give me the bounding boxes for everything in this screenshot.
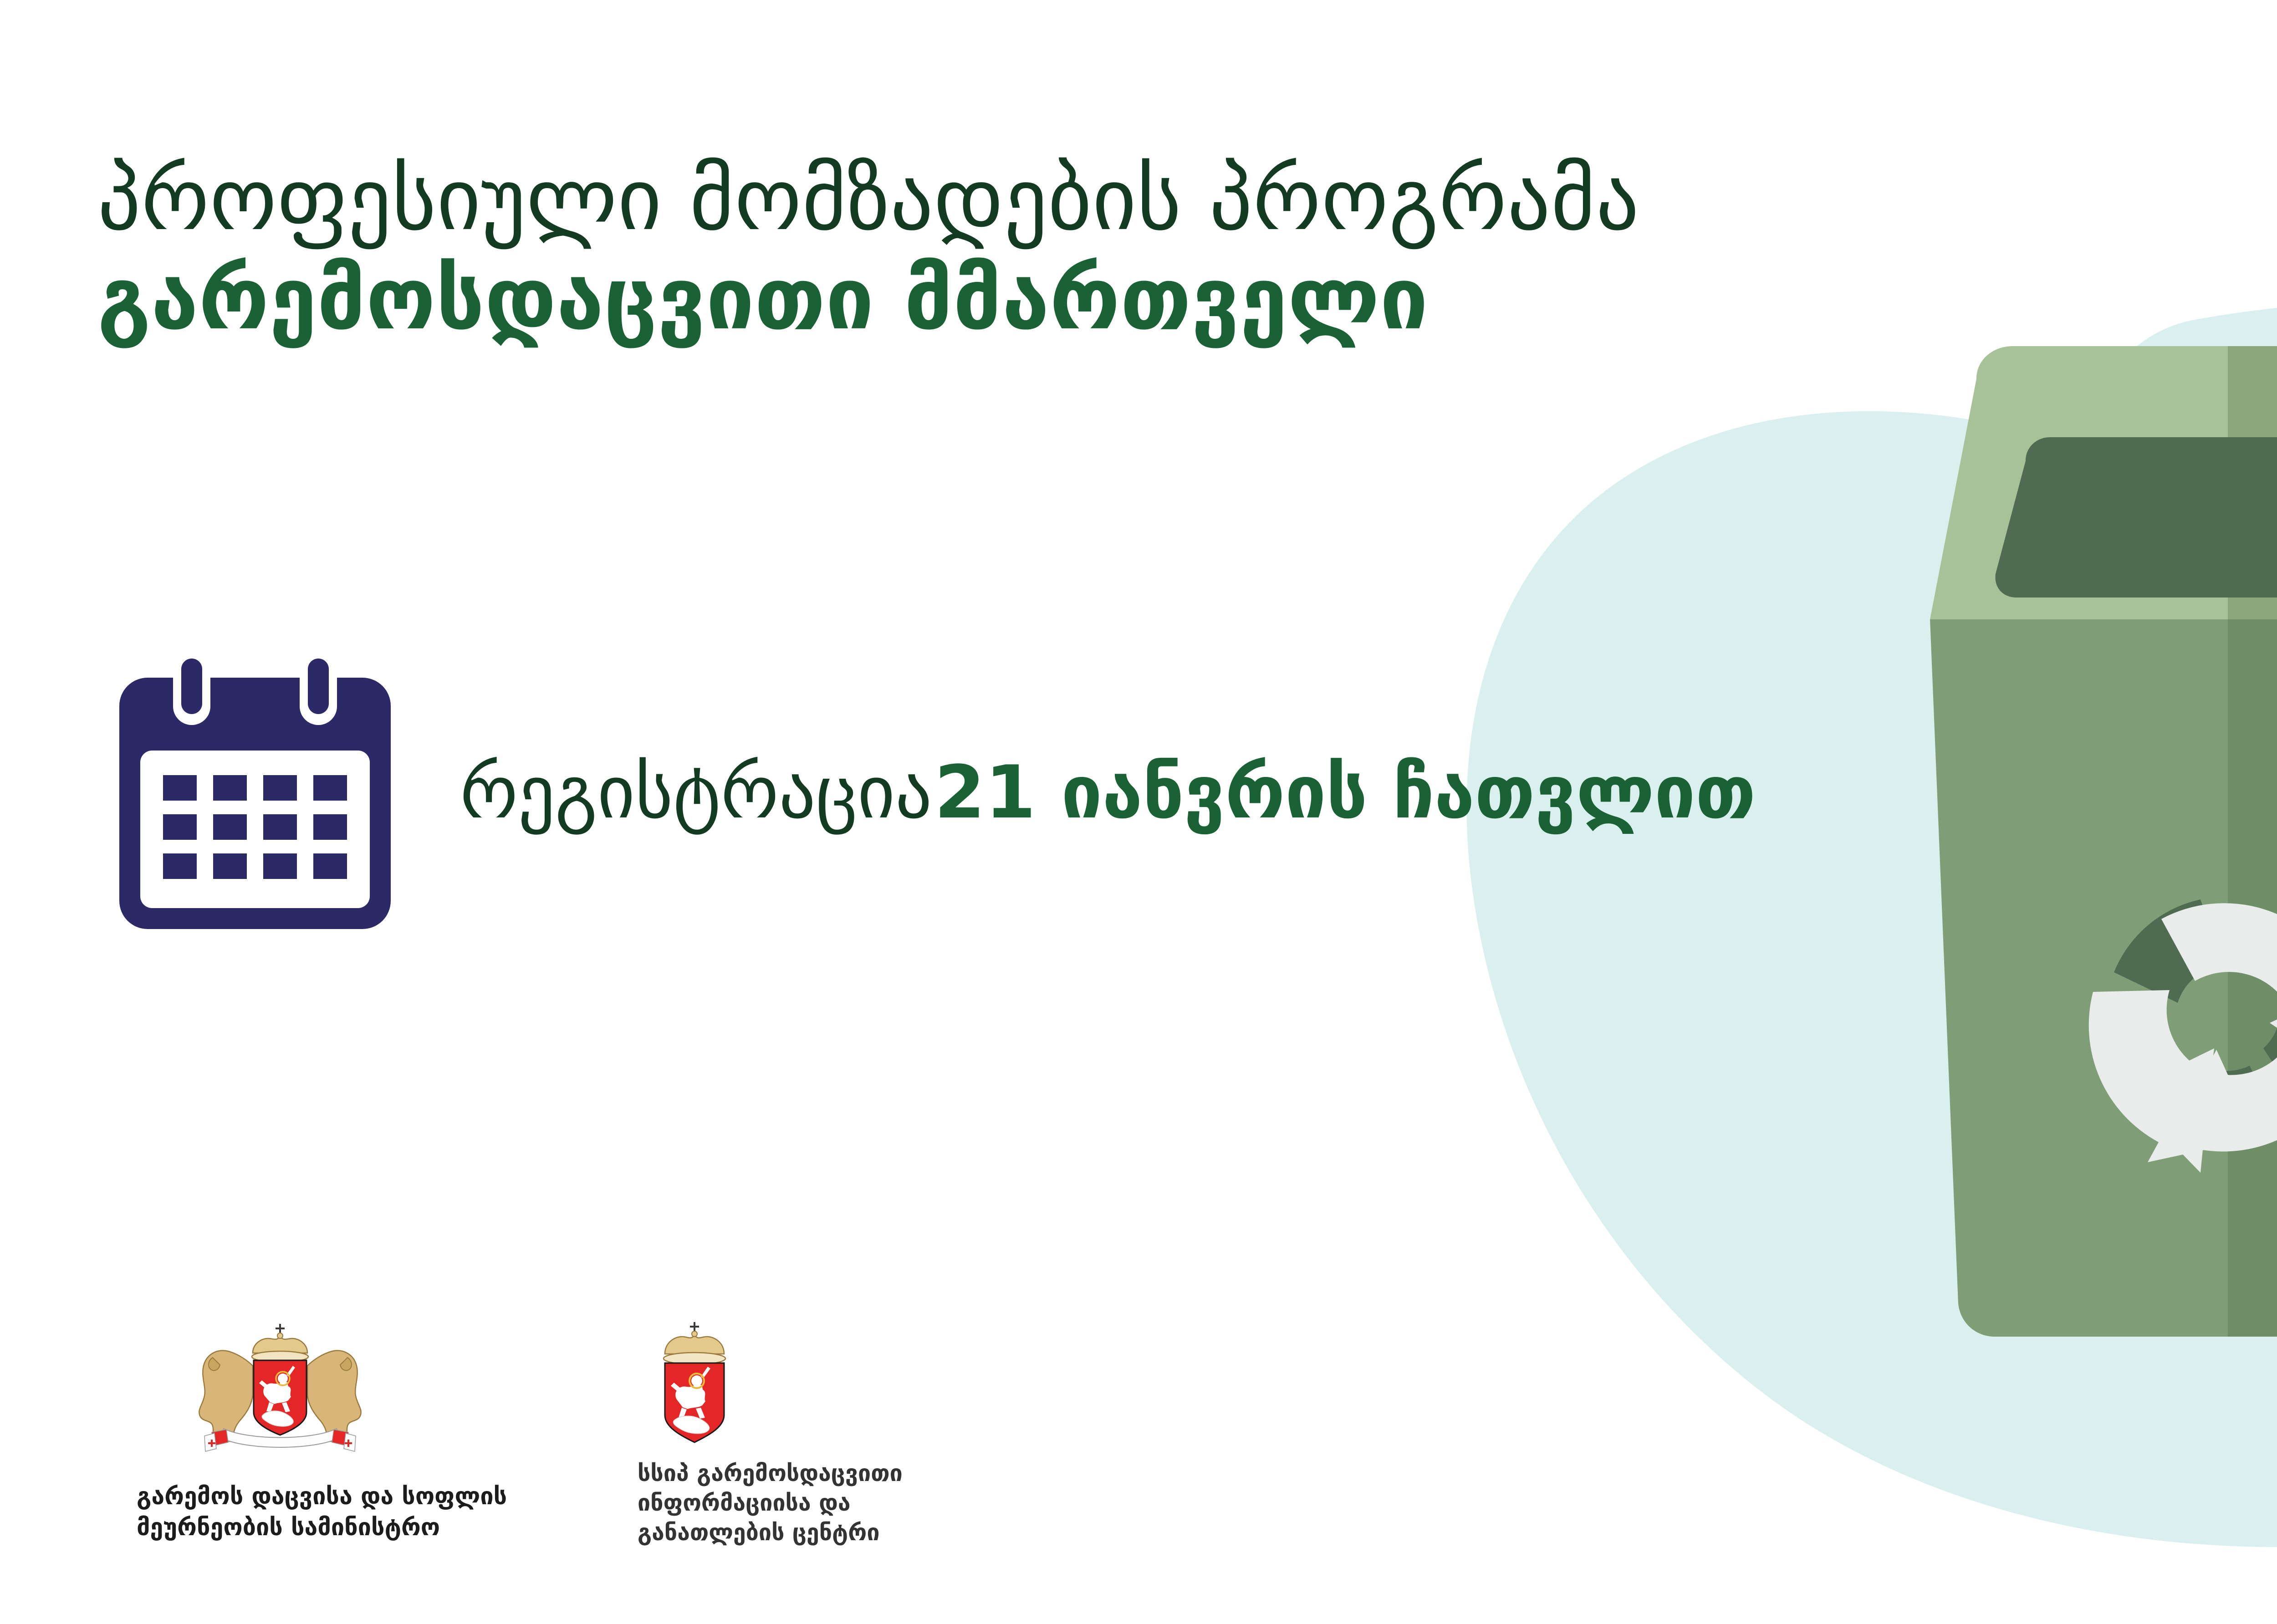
logo-ministry-caption-line-1: გარემოს დაცვისა და სოფლის	[137, 1481, 546, 1512]
poster-canvas: პროფესიული მომზადების პროგრამა გარემოსდა…	[0, 0, 2277, 1624]
registration-text: რეგისტრაცია 21 იანვრის ჩათვლით	[460, 748, 1756, 837]
logo-center-caption-line-3: განათლების ცენტრი	[638, 1518, 1047, 1547]
title-line-2: გარემოსდაცვითი მმართველი	[97, 250, 1737, 349]
footer-logos: გარემოს დაცვისა და სოფლის მეურნეობის სამ…	[137, 1318, 1047, 1547]
logo-center-caption-line-1: სსიპ გარემოსდაცვითი	[638, 1459, 1047, 1488]
logo-ministry-caption: გარემოს დაცვისა და სოფლის მეურნეობის სამ…	[137, 1481, 546, 1543]
georgia-crowned-shield-icon	[651, 1318, 738, 1450]
georgia-coat-of-arms-icon	[184, 1318, 376, 1469]
logo-center: სსიპ გარემოსდაცვითი ინფორმაციისა და განა…	[638, 1318, 1047, 1547]
page-title: პროფესიული მომზადების პროგრამა გარემოსდა…	[97, 150, 1737, 349]
registration-label: რეგისტრაცია	[460, 750, 932, 835]
registration-deadline: 21 იანვრის ჩათვლით	[934, 750, 1756, 835]
logo-ministry-caption-line-2: მეურნეობის სამინისტრო	[137, 1512, 546, 1543]
logo-center-caption-line-2: ინფორმაციისა და	[638, 1488, 1047, 1518]
logo-center-caption: სსიპ გარემოსდაცვითი ინფორმაციისა და განა…	[638, 1459, 1047, 1547]
logo-ministry: გარემოს დაცვისა და სოფლის მეურნეობის სამ…	[137, 1318, 546, 1543]
calendar-icon	[114, 651, 396, 934]
title-line-1: პროფესიული მომზადების პროგრამა	[97, 150, 1737, 250]
bin-opening	[1995, 437, 2277, 598]
registration-block: რეგისტრაცია 21 იანვრის ჩათვლით	[114, 651, 1756, 934]
